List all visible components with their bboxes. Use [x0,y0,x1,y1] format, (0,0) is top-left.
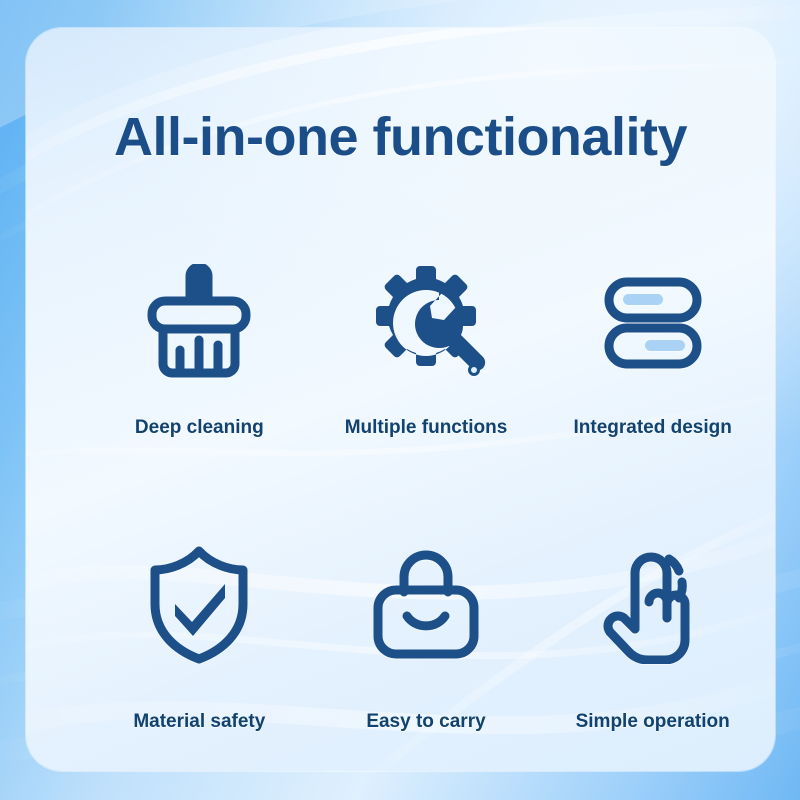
stacked-layers-icon [604,263,702,383]
feature-item-easy-to-carry: Easy to carry [313,533,540,771]
shield-check-icon [147,545,251,665]
gear-wrench-icon [365,263,487,383]
feature-item-integrated-design: Integrated design [539,263,766,533]
feature-label: Deep cleaning [135,417,264,439]
content-card: All-in-one functionality Deep cleaning [26,28,775,771]
feature-poster: All-in-one functionality Deep cleaning [0,0,800,800]
page-title: All-in-one functionality [26,106,775,168]
feature-label: Simple operation [576,711,730,733]
feature-item-multiple-functions: Multiple functions [313,263,540,533]
feature-grid: Deep cleaning Multiple functions [86,263,766,771]
feature-item-deep-cleaning: Deep cleaning [86,263,313,533]
feature-item-simple-operation: Simple operation [539,533,766,771]
feature-label: Integrated design [573,417,731,439]
tap-hand-icon [599,545,707,665]
handbag-icon [371,545,481,665]
feature-label: Material safety [133,711,265,733]
feature-label: Easy to carry [366,711,485,733]
feature-item-material-safety: Material safety [86,533,313,771]
cleaning-brush-icon [143,263,255,383]
feature-label: Multiple functions [345,417,508,439]
